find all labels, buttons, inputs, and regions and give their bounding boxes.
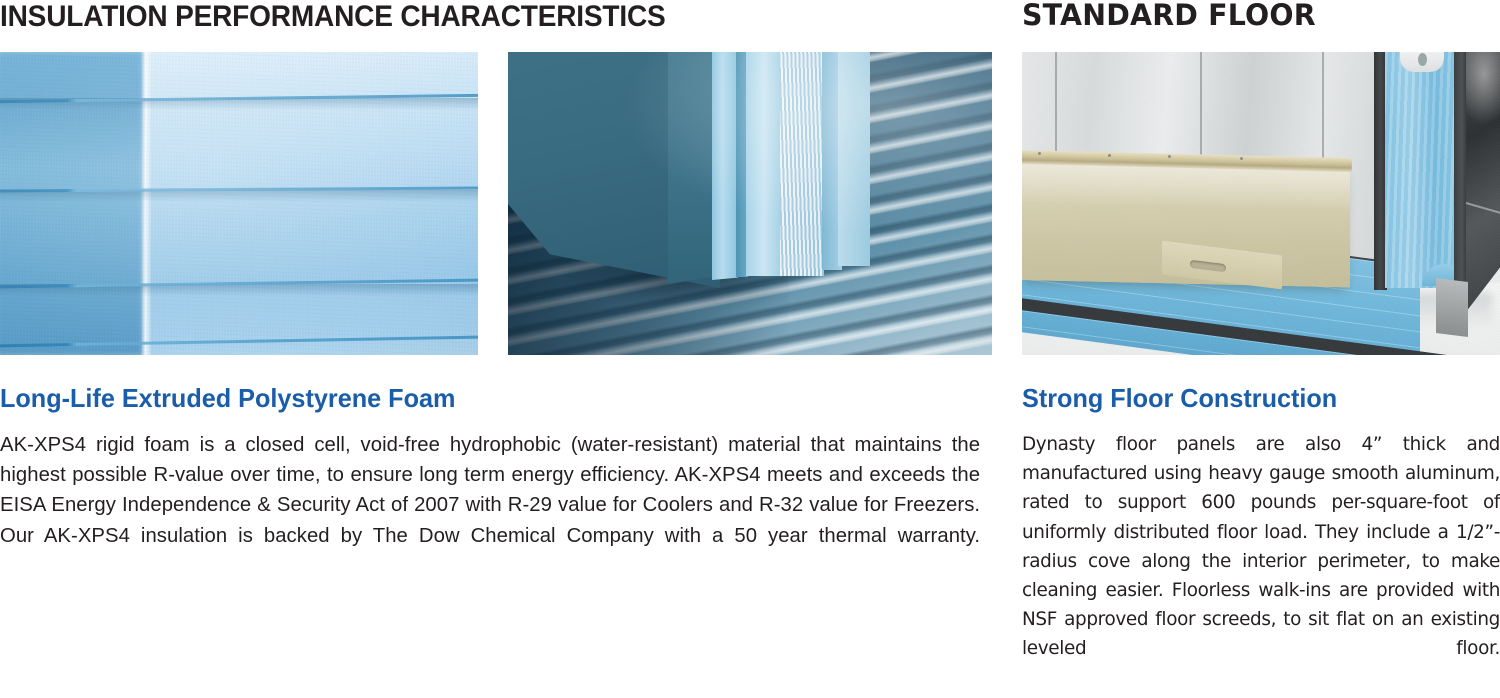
photo-scene xyxy=(0,52,478,355)
subheading-long-life-foam: Long-Life Extruded Polystyrene Foam xyxy=(0,385,455,411)
photo-scene xyxy=(1022,52,1500,355)
xps-foam-board-stack-photo xyxy=(0,52,478,355)
photo-vignette xyxy=(508,52,992,355)
page-root: INSULATION PERFORMANCE CHARACTERISTICS xyxy=(0,0,1500,698)
page-title-insulation: INSULATION PERFORMANCE CHARACTERISTICS xyxy=(0,2,666,32)
page-title-standard-floor: STANDARD FLOOR xyxy=(1022,1,1316,30)
photo-vignette xyxy=(0,52,478,355)
photo-scene xyxy=(508,52,992,355)
walk-in-floor-panel-cutaway-photo xyxy=(1022,52,1500,355)
xps-foam-on-metal-deck-photo xyxy=(508,52,992,355)
body-paragraph-floor: Dynasty floor panels are also 4” thick a… xyxy=(1022,430,1500,693)
subheading-strong-floor: Strong Floor Construction xyxy=(1022,385,1337,411)
photo-grain xyxy=(1022,52,1500,355)
body-paragraph-insulation: AK-XPS4 rigid foam is a closed cell, voi… xyxy=(0,430,980,581)
